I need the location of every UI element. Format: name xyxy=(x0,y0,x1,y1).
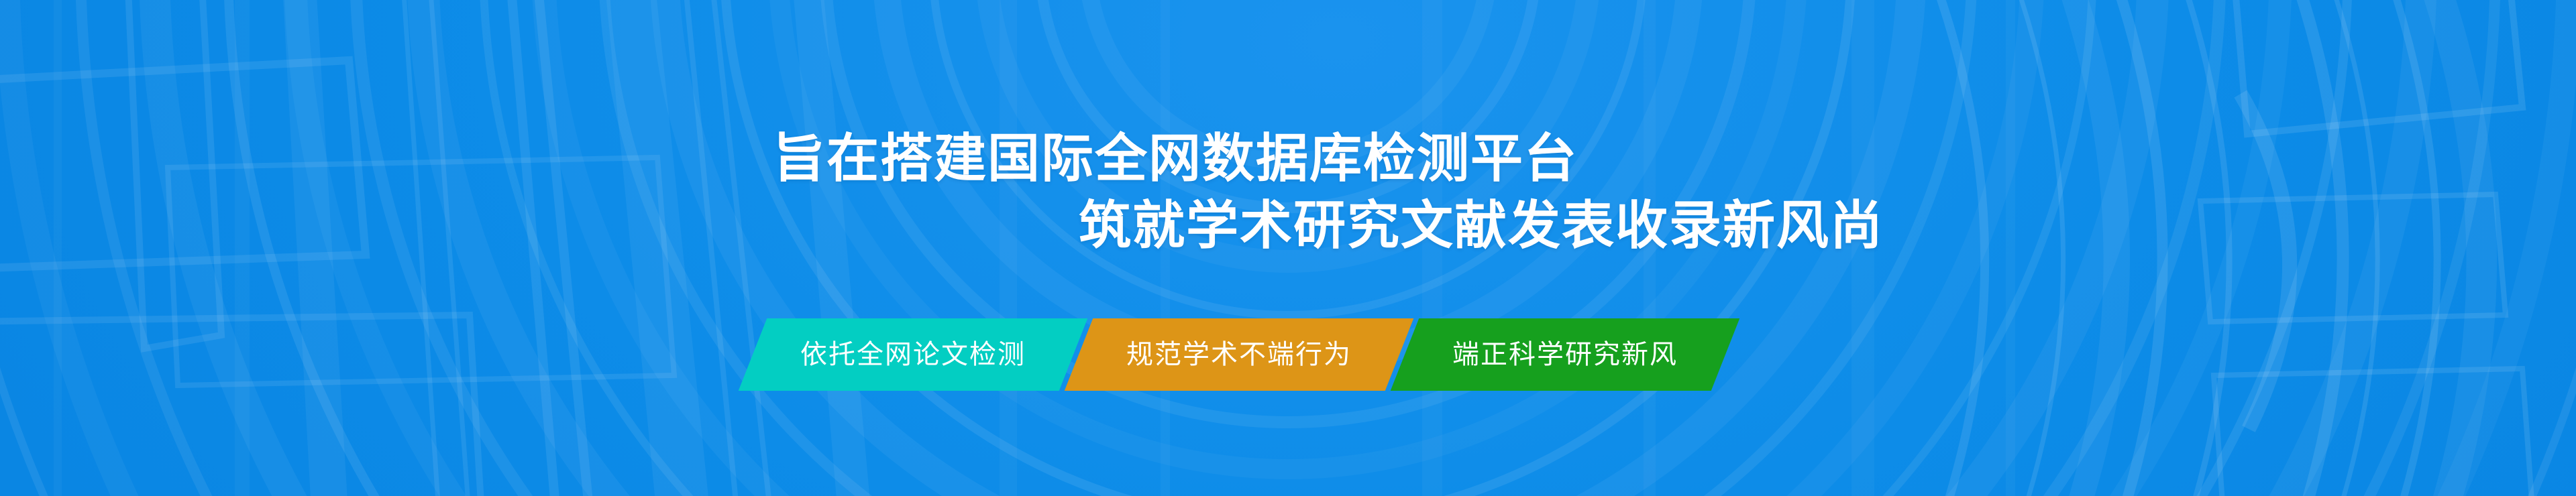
ribbon-academic-misconduct-label: 规范学术不端行为 xyxy=(1126,318,1352,391)
ribbon-paper-detection-label: 依托全网论文检测 xyxy=(800,318,1026,391)
promo-banner: 旨在搭建国际全网数据库检测平台 筑就学术研究文献发表收录新风尚 依托全网论文检测… xyxy=(0,0,2576,496)
ribbon-academic-misconduct[interactable]: 规范学术不端行为 xyxy=(1065,318,1414,391)
ribbon-badge-group: 依托全网论文检测 规范学术不端行为 端正科学研究新风 xyxy=(753,318,1725,391)
ribbon-research-integrity[interactable]: 端正科学研究新风 xyxy=(1391,318,1740,391)
headline-block: 旨在搭建国际全网数据库检测平台 筑就学术研究文献发表收录新风尚 xyxy=(0,125,2576,259)
headline-line-2: 筑就学术研究文献发表收录新风尚 xyxy=(1079,192,2576,259)
ribbon-research-integrity-label: 端正科学研究新风 xyxy=(1452,318,1678,391)
ribbon-paper-detection[interactable]: 依托全网论文检测 xyxy=(739,318,1088,391)
headline-line-1: 旨在搭建国际全网数据库检测平台 xyxy=(773,125,2576,192)
